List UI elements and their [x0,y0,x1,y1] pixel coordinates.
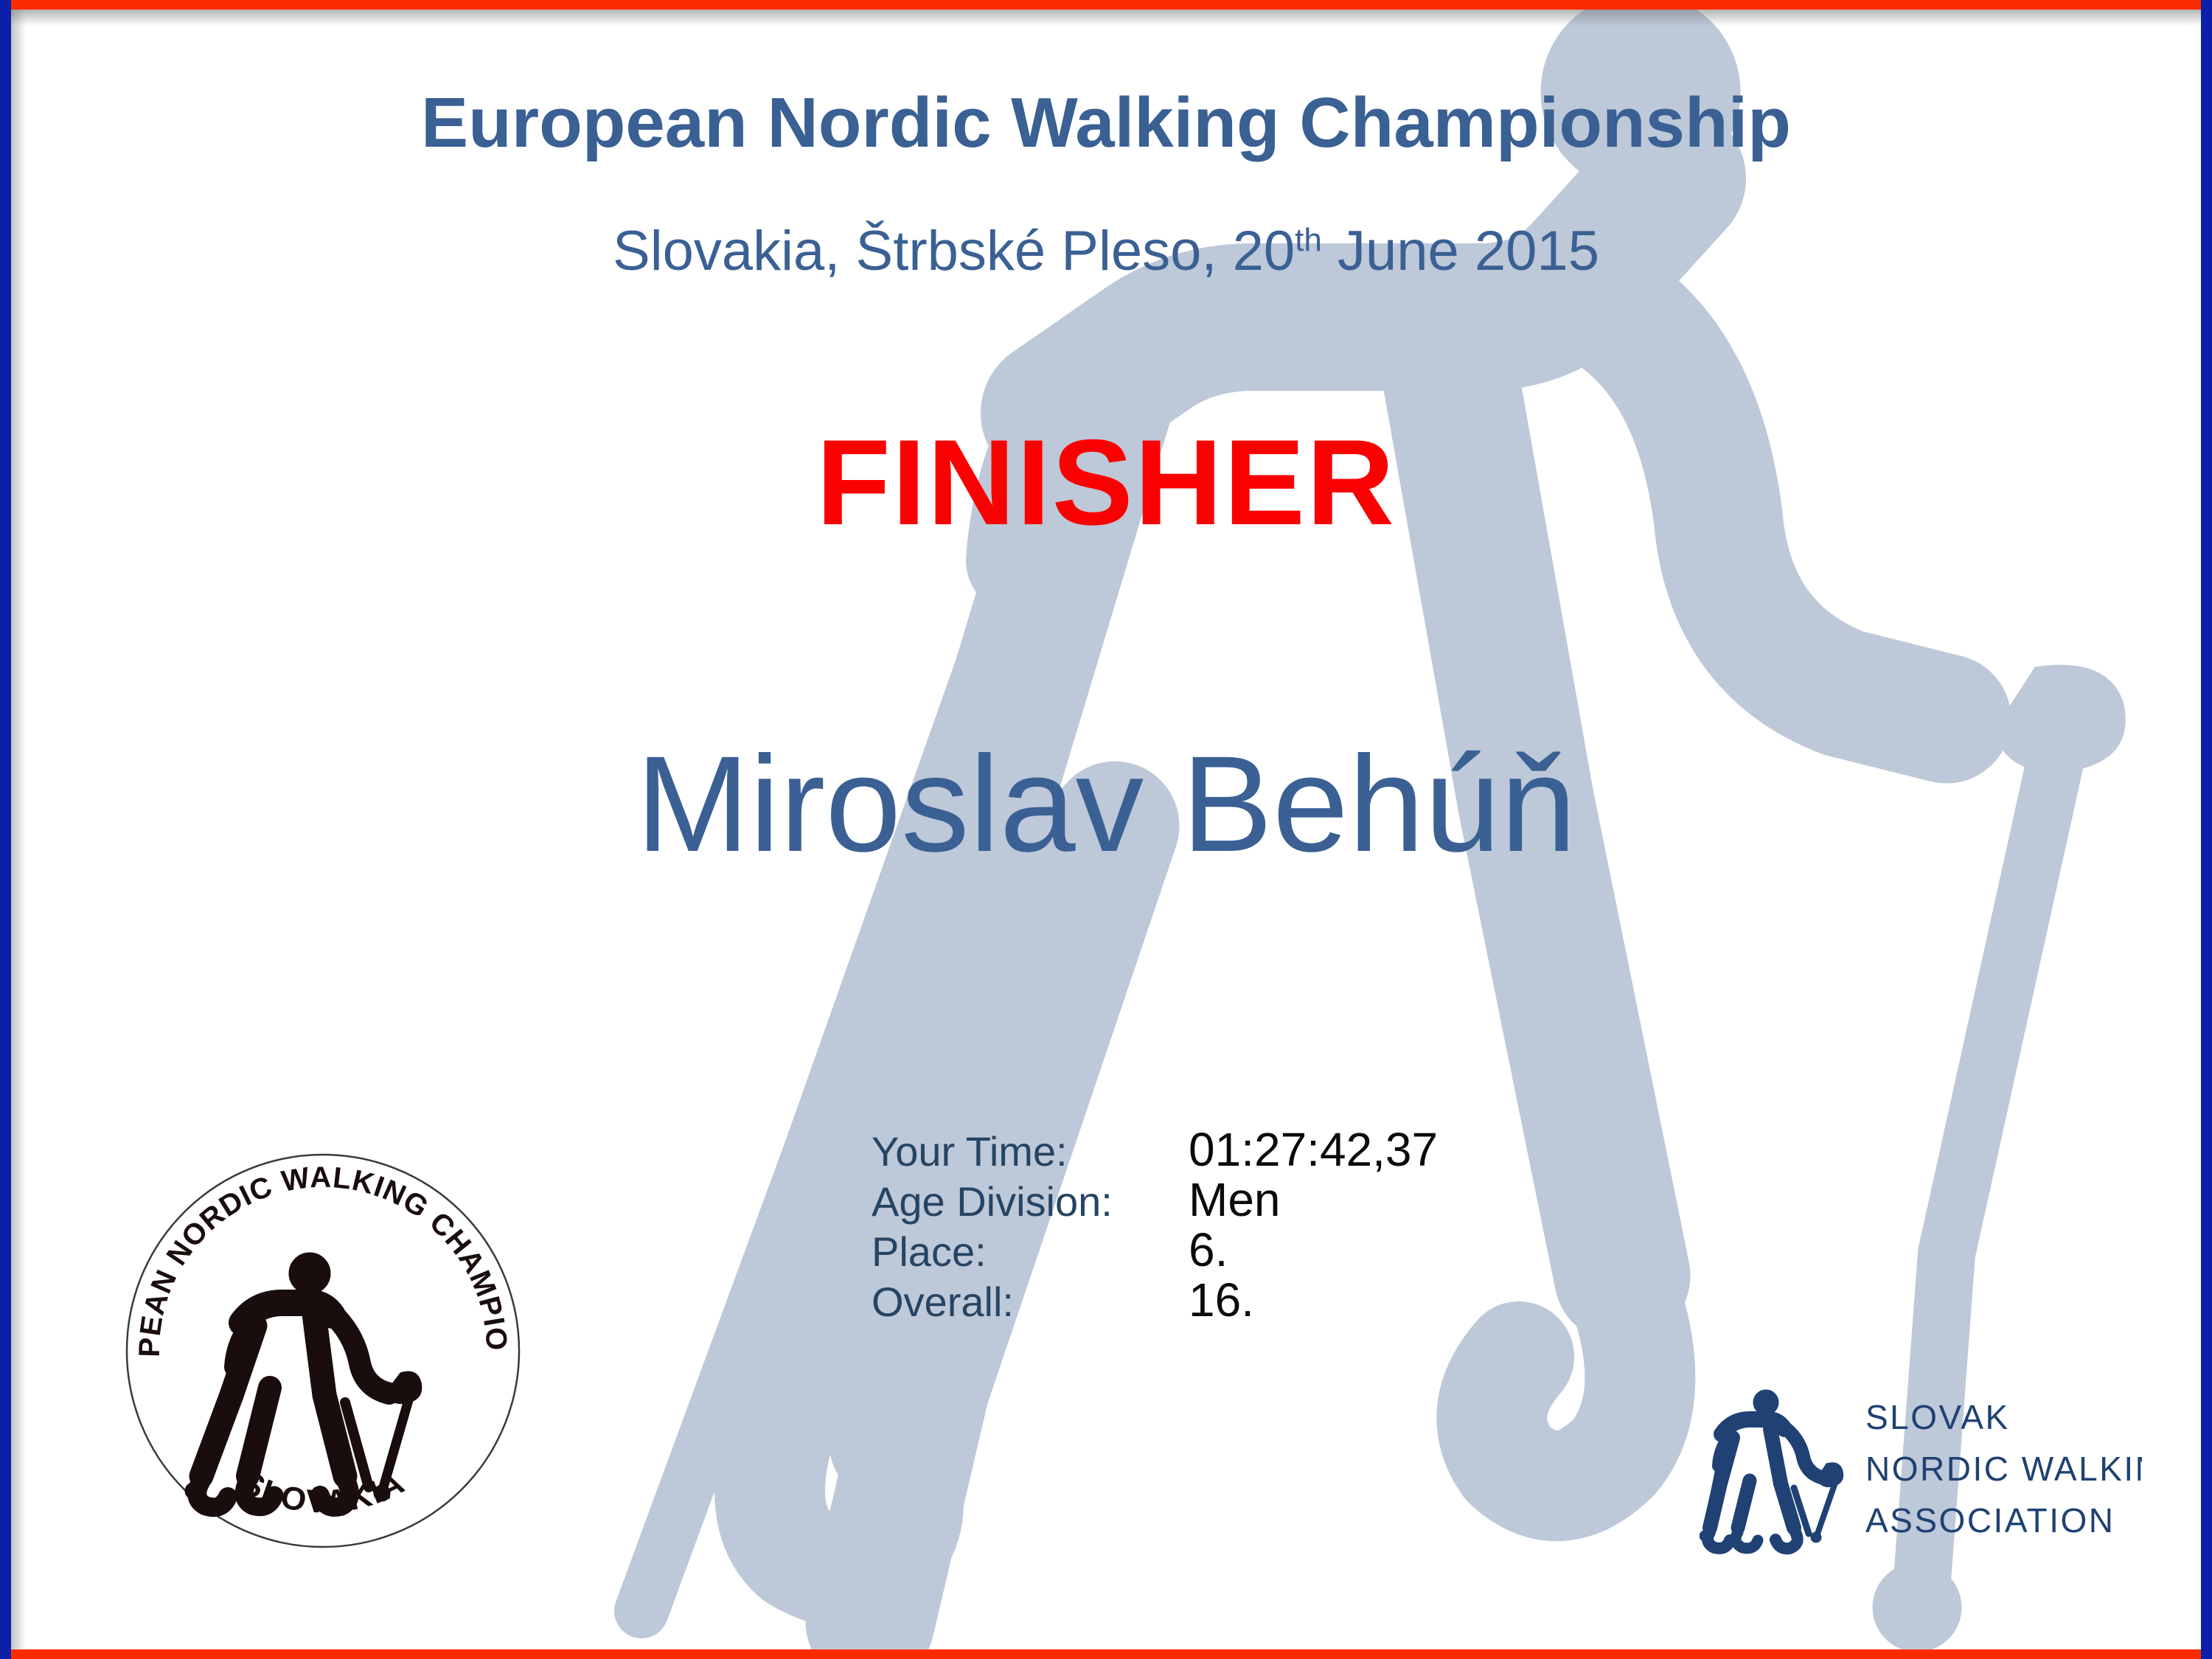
table-row: Age Division: Men [872,1172,1438,1222]
association-logo-line2: NORDIC WALKING [1865,1450,2142,1488]
result-label-age-division: Age Division: [872,1178,1189,1225]
results-block: Your Time: 01:27:42,37 Age Division: Men… [872,1122,1438,1323]
table-row: Overall: 16. [872,1273,1438,1323]
association-logo-line3: ASSOCIATION [1865,1501,2115,1540]
page-title: European Nordic Walking Championship [0,83,2212,164]
result-value-your-time: 01:27:42,37 [1189,1122,1438,1177]
border-left-blue [0,0,11,1659]
border-top-red [0,0,2212,10]
subtitle-prefix: Slovakia, Štrbské Pleso, 20 [613,220,1295,282]
result-label-overall: Overall: [872,1278,1189,1326]
table-row: Place: 6. [872,1222,1438,1273]
result-value-age-division: Men [1189,1172,1281,1227]
left-border-shadow [11,0,26,1659]
result-label-place: Place: [872,1228,1189,1276]
border-right-blue [2201,0,2212,1659]
certificate-page: European Nordic Walking Championship Slo… [0,0,2212,1659]
event-circular-logo: EUROPEAN NORDIC WALKING CHAMPIONSHIP SLO… [124,1152,522,1550]
top-border-shadow [0,10,2212,26]
date-ordinal-suffix: th [1295,222,1322,258]
nordic-walker-pictogram-blue [1700,1390,1843,1548]
association-logo-line1: SLOVAK [1865,1398,2010,1436]
association-logo: SLOVAK NORDIC WALKING ASSOCIATION [1700,1386,2142,1556]
event-location-date: Slovakia, Štrbské Pleso, 20th June 2015 [0,219,2212,283]
result-value-overall: 16. [1189,1273,1254,1327]
result-value-place: 6. [1189,1222,1228,1277]
border-bottom-red [0,1649,2212,1659]
result-label-your-time: Your Time: [872,1127,1189,1175]
status-badge: FINISHER [0,413,2212,552]
table-row: Your Time: 01:27:42,37 [872,1122,1438,1172]
subtitle-suffix: June 2015 [1322,220,1599,282]
athlete-name: Miroslav Behúň [0,726,2212,883]
